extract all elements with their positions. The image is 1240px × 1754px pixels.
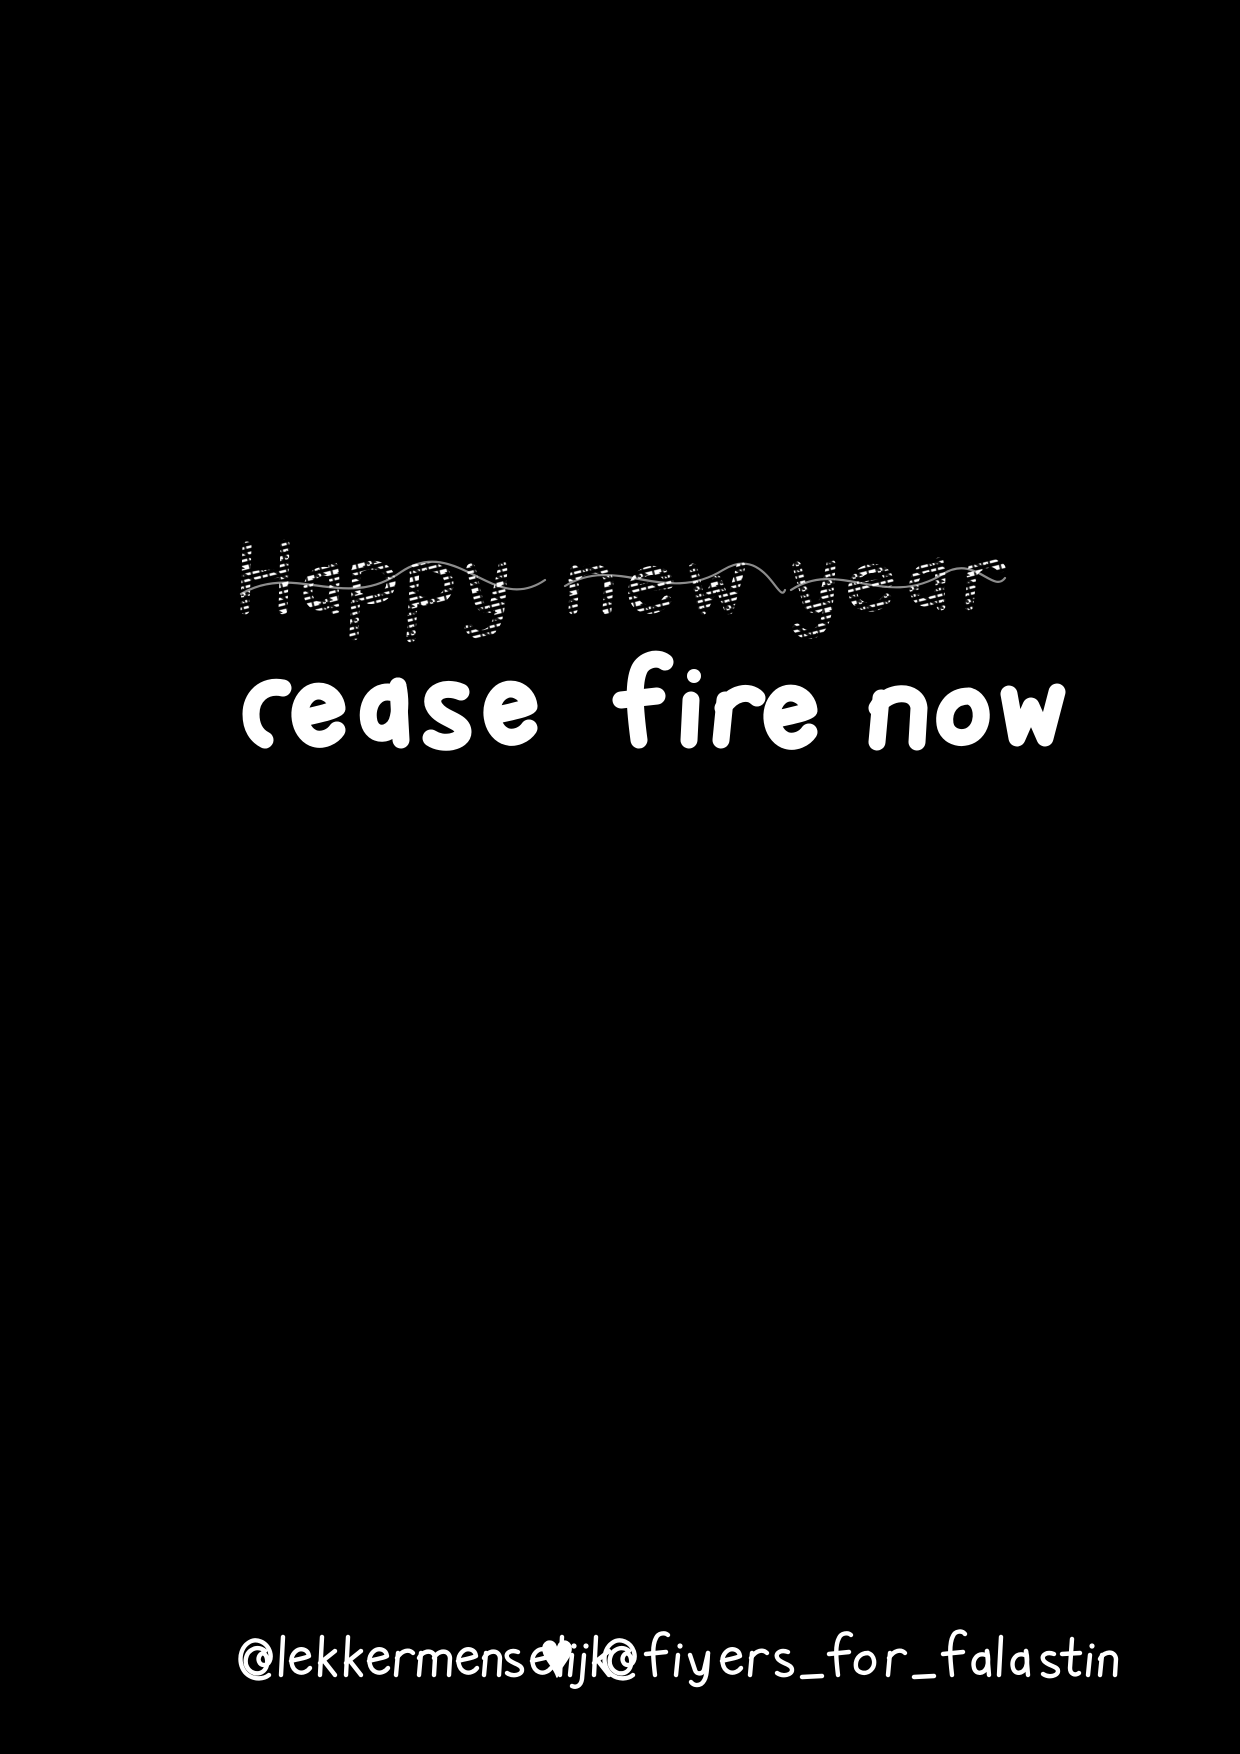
- heart-icon: [540, 1637, 574, 1679]
- headline-line-struck: Happy new year: [225, 520, 1015, 640]
- headline-block: Happy new year: [0, 520, 1240, 762]
- credit-handle-right[interactable]: @fiyers_for_Falastin: [600, 1625, 1004, 1691]
- headline-line-clean: cease fire now: [225, 642, 1015, 762]
- credit-handle-left[interactable]: @lekkermenselijk: [236, 1625, 514, 1691]
- poster-canvas: Happy new year: [0, 0, 1240, 1754]
- credits-row: @lekkermenselijk: [0, 1618, 1240, 1698]
